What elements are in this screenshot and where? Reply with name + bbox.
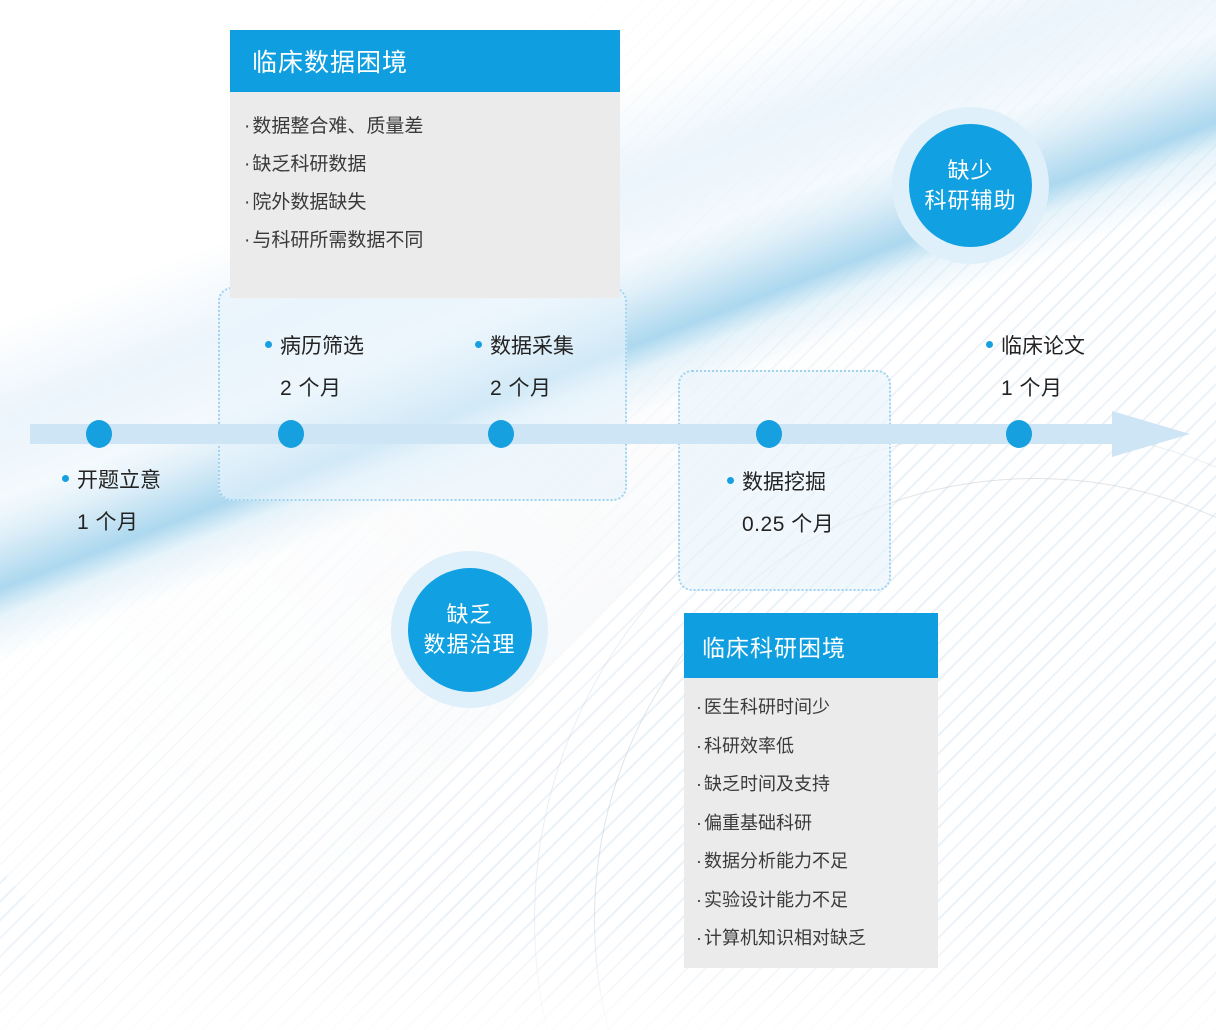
timeline-axis — [30, 424, 1114, 444]
card-list-item: ·缺乏时间及支持 — [696, 765, 924, 804]
milestone-title-row: 开题立意 — [62, 466, 161, 496]
card-list-item-text: 与科研所需数据不同 — [252, 230, 423, 251]
timeline-dot[interactable] — [86, 420, 112, 448]
bottom-fade — [0, 910, 1216, 1030]
card-list-item-text: 偏重基础科研 — [704, 813, 812, 833]
card-list-item: ·数据分析能力不足 — [696, 842, 924, 881]
badge-line-1: 缺少 — [947, 156, 993, 186]
card-list-item-text: 院外数据缺失 — [252, 192, 366, 213]
card-list-item-text: 科研效率低 — [704, 736, 794, 756]
list-bullet-icon: · — [696, 851, 702, 871]
milestone-duration: 1 个月 — [62, 508, 161, 538]
bullet-dot-icon — [986, 341, 993, 348]
info-card-clinical-research: 临床科研困境 ·医生科研时间少 ·科研效率低 ·缺乏时间及支持 ·偏重基础科研 … — [684, 613, 938, 968]
bullet-dot-icon — [62, 475, 69, 482]
bullet-dot-icon — [727, 477, 734, 484]
milestone-0: 开题立意 1 个月 — [62, 466, 161, 538]
milestone-duration: 0.25 个月 — [727, 510, 834, 540]
card-list-item-text: 数据整合难、质量差 — [252, 116, 423, 137]
card-list-item: ·数据整合难、质量差 — [244, 108, 600, 146]
card-list-item: ·医生科研时间少 — [696, 688, 924, 727]
milestone-title-row: 病历筛选 — [265, 332, 364, 362]
milestone-title-row: 数据采集 — [475, 332, 574, 362]
card-title: 临床科研困境 — [684, 613, 938, 678]
milestone-title: 数据挖掘 — [742, 468, 826, 498]
milestone-1: 病历筛选 2 个月 — [265, 332, 364, 404]
card-body: ·数据整合难、质量差 ·缺乏科研数据 ·院外数据缺失 ·与科研所需数据不同 — [230, 92, 620, 298]
card-list-item-text: 实验设计能力不足 — [704, 890, 848, 910]
list-bullet-icon: · — [244, 230, 250, 251]
milestone-4: 临床论文 1 个月 — [986, 332, 1085, 404]
milestone-duration: 1 个月 — [986, 374, 1085, 404]
milestone-duration: 2 个月 — [265, 374, 364, 404]
card-list-item: ·实验设计能力不足 — [696, 881, 924, 920]
milestone-duration: 2 个月 — [475, 374, 574, 404]
milestone-title: 数据采集 — [490, 332, 574, 362]
badge-inner-circle: 缺乏 数据治理 — [408, 568, 532, 692]
list-bullet-icon: · — [244, 154, 250, 175]
card-list-item: ·偏重基础科研 — [696, 804, 924, 843]
badge-research-support: 缺少 科研辅助 — [892, 107, 1049, 264]
badge-line-1: 缺乏 — [446, 600, 492, 630]
slide-canvas: 开题立意 1 个月 病历筛选 2 个月 数据采集 2 个月 数据挖掘 0.25 … — [0, 0, 1216, 1030]
card-list-item: ·与科研所需数据不同 — [244, 222, 600, 260]
bullet-dot-icon — [265, 341, 272, 348]
badge-line-2: 数据治理 — [423, 630, 515, 660]
milestone-2: 数据采集 2 个月 — [475, 332, 574, 404]
card-list-item-text: 计算机知识相对缺乏 — [704, 928, 866, 948]
milestone-title: 病历筛选 — [280, 332, 364, 362]
card-list-item-text: 数据分析能力不足 — [704, 851, 848, 871]
info-card-clinical-data: 临床数据困境 ·数据整合难、质量差 ·缺乏科研数据 ·院外数据缺失 ·与科研所需… — [230, 30, 620, 298]
list-bullet-icon: · — [696, 928, 702, 948]
milestone-title: 临床论文 — [1001, 332, 1085, 362]
card-list-item: ·计算机知识相对缺乏 — [696, 919, 924, 958]
list-bullet-icon: · — [244, 116, 250, 137]
list-bullet-icon: · — [696, 697, 702, 717]
timeline-dot[interactable] — [1006, 420, 1032, 448]
badge-data-governance: 缺乏 数据治理 — [391, 551, 548, 708]
list-bullet-icon: · — [244, 192, 250, 213]
badge-inner-circle: 缺少 科研辅助 — [909, 124, 1032, 247]
card-title: 临床数据困境 — [230, 30, 620, 92]
card-list-item: ·缺乏科研数据 — [244, 146, 600, 184]
milestone-title: 开题立意 — [77, 466, 161, 496]
timeline-arrow-icon — [1112, 411, 1190, 457]
list-bullet-icon: · — [696, 774, 702, 794]
list-bullet-icon: · — [696, 813, 702, 833]
card-list-item: ·科研效率低 — [696, 727, 924, 766]
card-list-item: ·院外数据缺失 — [244, 184, 600, 222]
list-bullet-icon: · — [696, 890, 702, 910]
card-list-item-text: 缺乏时间及支持 — [704, 774, 830, 794]
milestone-title-row: 数据挖掘 — [727, 468, 834, 498]
timeline-dot[interactable] — [278, 420, 304, 448]
list-bullet-icon: · — [696, 736, 702, 756]
timeline-dot[interactable] — [488, 420, 514, 448]
card-list-item-text: 医生科研时间少 — [704, 697, 830, 717]
bullet-dot-icon — [475, 341, 482, 348]
card-list-item-text: 缺乏科研数据 — [252, 154, 366, 175]
badge-line-2: 科研辅助 — [924, 186, 1016, 216]
milestone-3: 数据挖掘 0.25 个月 — [727, 468, 834, 540]
milestone-title-row: 临床论文 — [986, 332, 1085, 362]
card-body: ·医生科研时间少 ·科研效率低 ·缺乏时间及支持 ·偏重基础科研 ·数据分析能力… — [684, 678, 938, 968]
timeline-dot[interactable] — [756, 420, 782, 448]
